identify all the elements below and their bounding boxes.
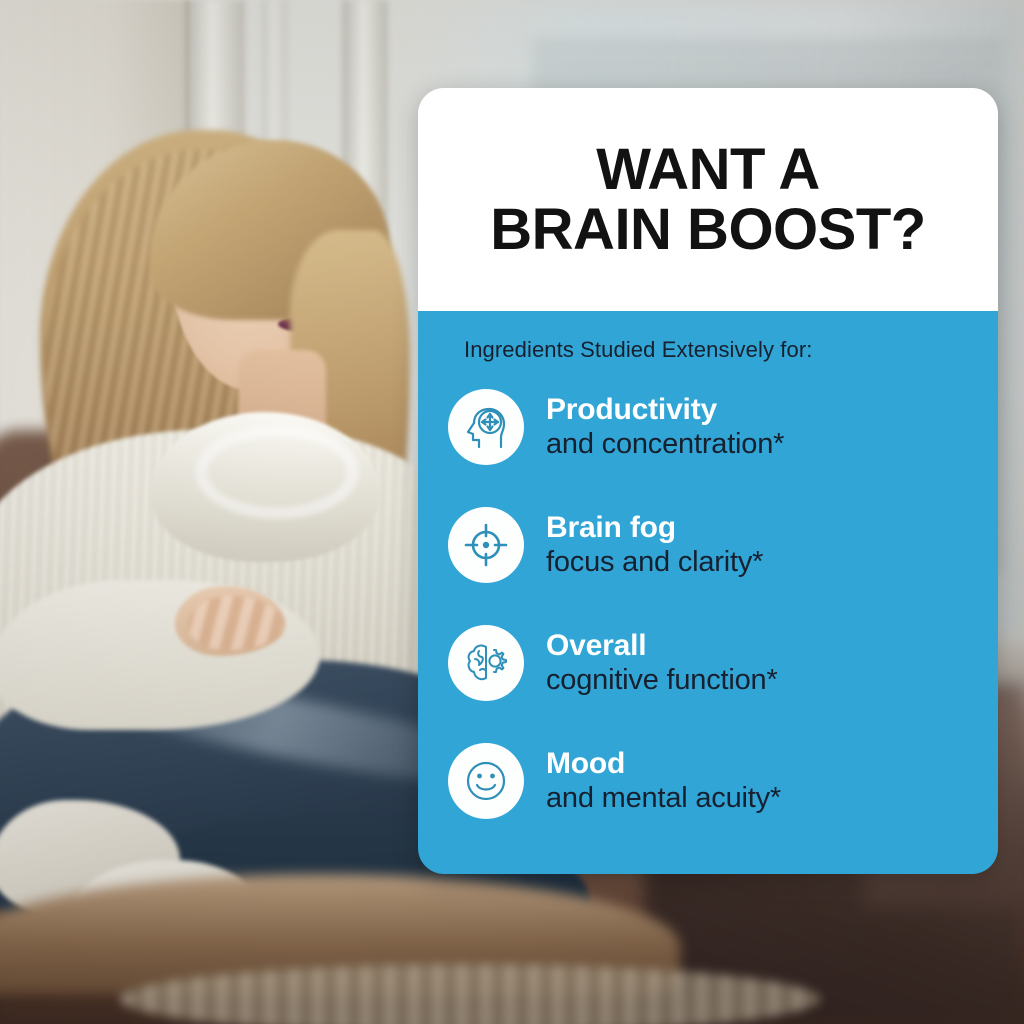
benefit-title: Productivity	[546, 393, 784, 428]
benefit-subtitle: and mental acuity*	[546, 782, 781, 816]
benefit-text: Productivity and concentration*	[546, 393, 784, 461]
list-item: Mood and mental acuity*	[448, 729, 968, 833]
woman-subject	[0, 0, 480, 1024]
benefit-title: Mood	[546, 747, 781, 782]
list-item: Overall cognitive function*	[448, 611, 968, 715]
title-line-1: WANT A	[596, 137, 820, 202]
card-header: WANT A BRAIN BOOST?	[418, 88, 998, 311]
list-item: Brain fog focus and clarity*	[448, 493, 968, 597]
head-crosshair-icon	[448, 389, 524, 465]
benefits-card: WANT A BRAIN BOOST? Ingredients Studied …	[418, 88, 998, 874]
benefit-title: Overall	[546, 629, 778, 664]
smiley-face-icon	[448, 743, 524, 819]
title-line-2: BRAIN BOOST?	[490, 197, 925, 262]
benefit-list: Productivity and concentration* Brain fo…	[448, 375, 968, 833]
target-crosshair-icon	[448, 507, 524, 583]
benefit-text: Brain fog focus and clarity*	[546, 511, 763, 579]
benefit-subtitle: focus and clarity*	[546, 546, 763, 580]
benefit-title: Brain fog	[546, 511, 763, 546]
card-subtitle: Ingredients Studied Extensively for:	[464, 337, 968, 363]
turtleneck-cowl-ring	[195, 425, 359, 519]
benefit-subtitle: cognitive function*	[546, 664, 778, 698]
brain-gear-icon	[448, 625, 524, 701]
benefit-text: Mood and mental acuity*	[546, 747, 781, 815]
card-body: Ingredients Studied Extensively for:	[418, 311, 998, 874]
benefit-subtitle: and concentration*	[546, 428, 784, 462]
page-title: WANT A BRAIN BOOST?	[490, 140, 925, 259]
benefit-text: Overall cognitive function*	[546, 629, 778, 697]
list-item: Productivity and concentration*	[448, 375, 968, 479]
advertisement-graphic: WANT A BRAIN BOOST? Ingredients Studied …	[0, 0, 1024, 1024]
